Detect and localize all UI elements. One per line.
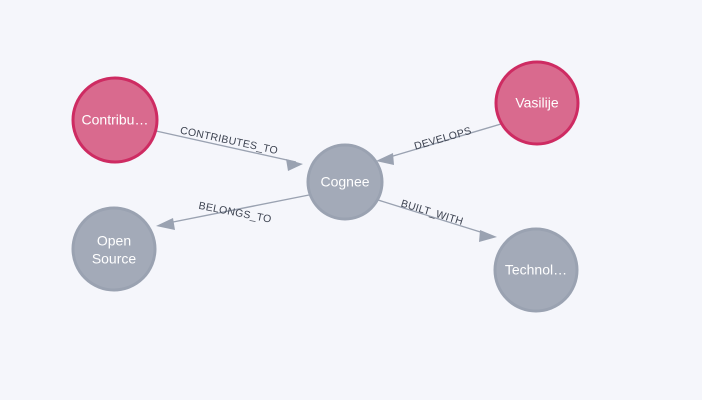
node-vasilije[interactable]: Vasilije: [496, 62, 578, 144]
graph-canvas[interactable]: CONTRIBUTES_TO DEVELOPS BELONGS_TO BUILT…: [0, 0, 702, 400]
edge-arrowhead-built-with: [479, 230, 497, 242]
node-circle-open-source[interactable]: [73, 208, 155, 290]
edge-built-with[interactable]: BUILT_WITH: [378, 198, 497, 242]
edge-arrowhead-develops: [376, 153, 394, 165]
edge-label-belongs-to: BELONGS_TO: [198, 200, 273, 226]
node-circle-contributor[interactable]: [73, 78, 157, 162]
edge-label-contributes-to: CONTRIBUTES_TO: [179, 125, 279, 157]
node-contributor[interactable]: Contribu…: [73, 78, 157, 162]
edge-label-develops: DEVELOPS: [413, 125, 473, 153]
graph-visualization[interactable]: CONTRIBUTES_TO DEVELOPS BELONGS_TO BUILT…: [0, 0, 702, 400]
node-open-source[interactable]: Open Source: [73, 208, 155, 290]
edge-develops[interactable]: DEVELOPS: [376, 124, 501, 165]
edge-belongs-to[interactable]: BELONGS_TO: [156, 195, 309, 230]
edge-arrowhead-belongs-to: [156, 218, 175, 230]
node-circle-technology[interactable]: [495, 229, 577, 311]
node-technology[interactable]: Technol…: [495, 229, 577, 311]
edge-label-built-with: BUILT_WITH: [399, 198, 464, 228]
node-cognee[interactable]: Cognee: [308, 145, 382, 219]
edge-contributes-to[interactable]: CONTRIBUTES_TO: [156, 125, 303, 171]
edge-arrowhead-contributes-to: [286, 159, 303, 171]
node-layer: Contribu… Vasilije Cognee Open Source Te…: [73, 62, 578, 311]
node-circle-vasilije[interactable]: [496, 62, 578, 144]
node-circle-cognee[interactable]: [308, 145, 382, 219]
